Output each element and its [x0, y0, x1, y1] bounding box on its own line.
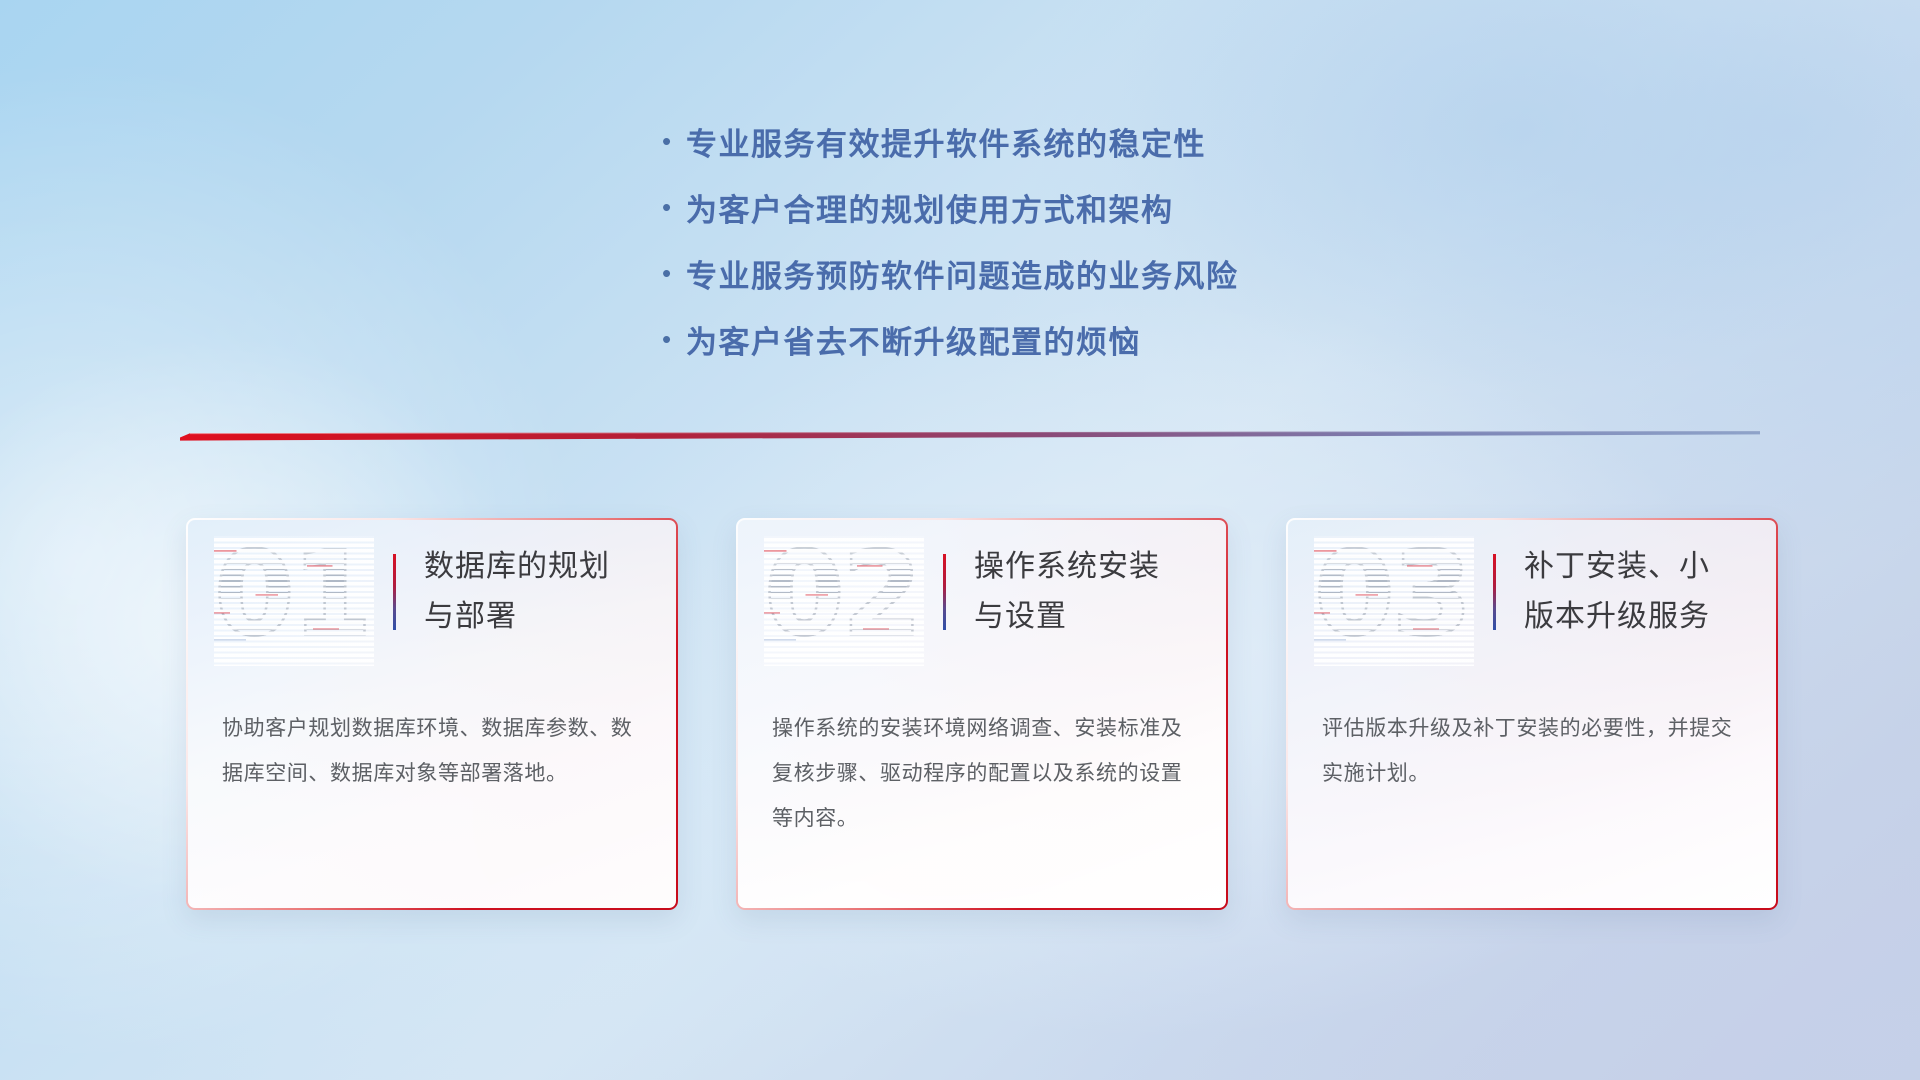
service-card-01[interactable]: 01 数据库的规划 与部署 协助客户规划数据库环境、数据库参数、数据库空间、数据… [186, 518, 678, 910]
slide-canvas: • 专业服务有效提升软件系统的稳定性 • 为客户合理的规划使用方式和架构 • 专… [0, 0, 1920, 1080]
title-accent-bar [393, 554, 396, 630]
card-number-text: 02 [764, 536, 924, 666]
card-number-watermark: 01 [214, 536, 374, 666]
card-title: 补丁安装、小 版本升级服务 [1524, 542, 1760, 642]
title-accent-bar [1493, 554, 1496, 630]
bullet-dot-icon: • [660, 128, 686, 154]
bullet-text: 专业服务有效提升软件系统的稳定性 [686, 119, 1206, 164]
bullet-text: 为客户省去不断升级配置的烦恼 [686, 317, 1141, 362]
card-title-line-2: 与部署 [424, 592, 660, 642]
card-body-text: 评估版本升级及补丁安装的必要性，并提交实施计划。 [1322, 706, 1746, 796]
bullet-dot-icon: • [660, 326, 686, 352]
list-item: • 为客户合理的规划使用方式和架构 [660, 174, 1239, 240]
service-card-02[interactable]: 02 操作系统安装 与设置 操作系统的安装环境网络调查、安装标准及复核步骤、驱动… [736, 518, 1228, 910]
card-surface: 02 操作系统安装 与设置 操作系统的安装环境网络调查、安装标准及复核步骤、驱动… [738, 520, 1226, 908]
card-header: 01 数据库的规划 与部署 [188, 532, 676, 684]
card-header: 02 操作系统安装 与设置 [738, 532, 1226, 684]
card-number-watermark: 03 [1314, 536, 1474, 666]
card-title-line-1: 补丁安装、小 [1524, 542, 1760, 592]
card-title-line-1: 数据库的规划 [424, 542, 660, 592]
service-card-row: 01 数据库的规划 与部署 协助客户规划数据库环境、数据库参数、数据库空间、数据… [0, 518, 1920, 928]
card-number-text: 03 [1314, 536, 1474, 666]
title-accent-bar [943, 554, 946, 630]
divider-rule-icon [180, 424, 1760, 446]
card-title: 操作系统安装 与设置 [974, 542, 1210, 642]
section-divider [180, 424, 1760, 446]
card-surface: 03 补丁安装、小 版本升级服务 评估版本升级及补丁安装的必要性，并提交实施计划… [1288, 520, 1776, 908]
card-body-text: 操作系统的安装环境网络调查、安装标准及复核步骤、驱动程序的配置以及系统的设置等内… [772, 706, 1196, 841]
card-body-text: 协助客户规划数据库环境、数据库参数、数据库空间、数据库对象等部署落地。 [222, 706, 646, 796]
card-title: 数据库的规划 与部署 [424, 542, 660, 642]
list-item: • 专业服务有效提升软件系统的稳定性 [660, 108, 1239, 174]
bullet-dot-icon: • [660, 194, 686, 220]
card-number-watermark: 02 [764, 536, 924, 666]
bullet-text: 为客户合理的规划使用方式和架构 [686, 185, 1174, 230]
card-title-line-2: 与设置 [974, 592, 1210, 642]
benefits-bullet-list: • 专业服务有效提升软件系统的稳定性 • 为客户合理的规划使用方式和架构 • 专… [660, 108, 1239, 372]
card-number-text: 01 [214, 536, 374, 666]
card-surface: 01 数据库的规划 与部署 协助客户规划数据库环境、数据库参数、数据库空间、数据… [188, 520, 676, 908]
list-item: • 专业服务预防软件问题造成的业务风险 [660, 240, 1239, 306]
card-header: 03 补丁安装、小 版本升级服务 [1288, 532, 1776, 684]
list-item: • 为客户省去不断升级配置的烦恼 [660, 306, 1239, 372]
card-title-line-1: 操作系统安装 [974, 542, 1210, 592]
card-title-line-2: 版本升级服务 [1524, 592, 1760, 642]
bullet-text: 专业服务预防软件问题造成的业务风险 [686, 251, 1239, 296]
bullet-dot-icon: • [660, 260, 686, 286]
service-card-03[interactable]: 03 补丁安装、小 版本升级服务 评估版本升级及补丁安装的必要性，并提交实施计划… [1286, 518, 1778, 910]
